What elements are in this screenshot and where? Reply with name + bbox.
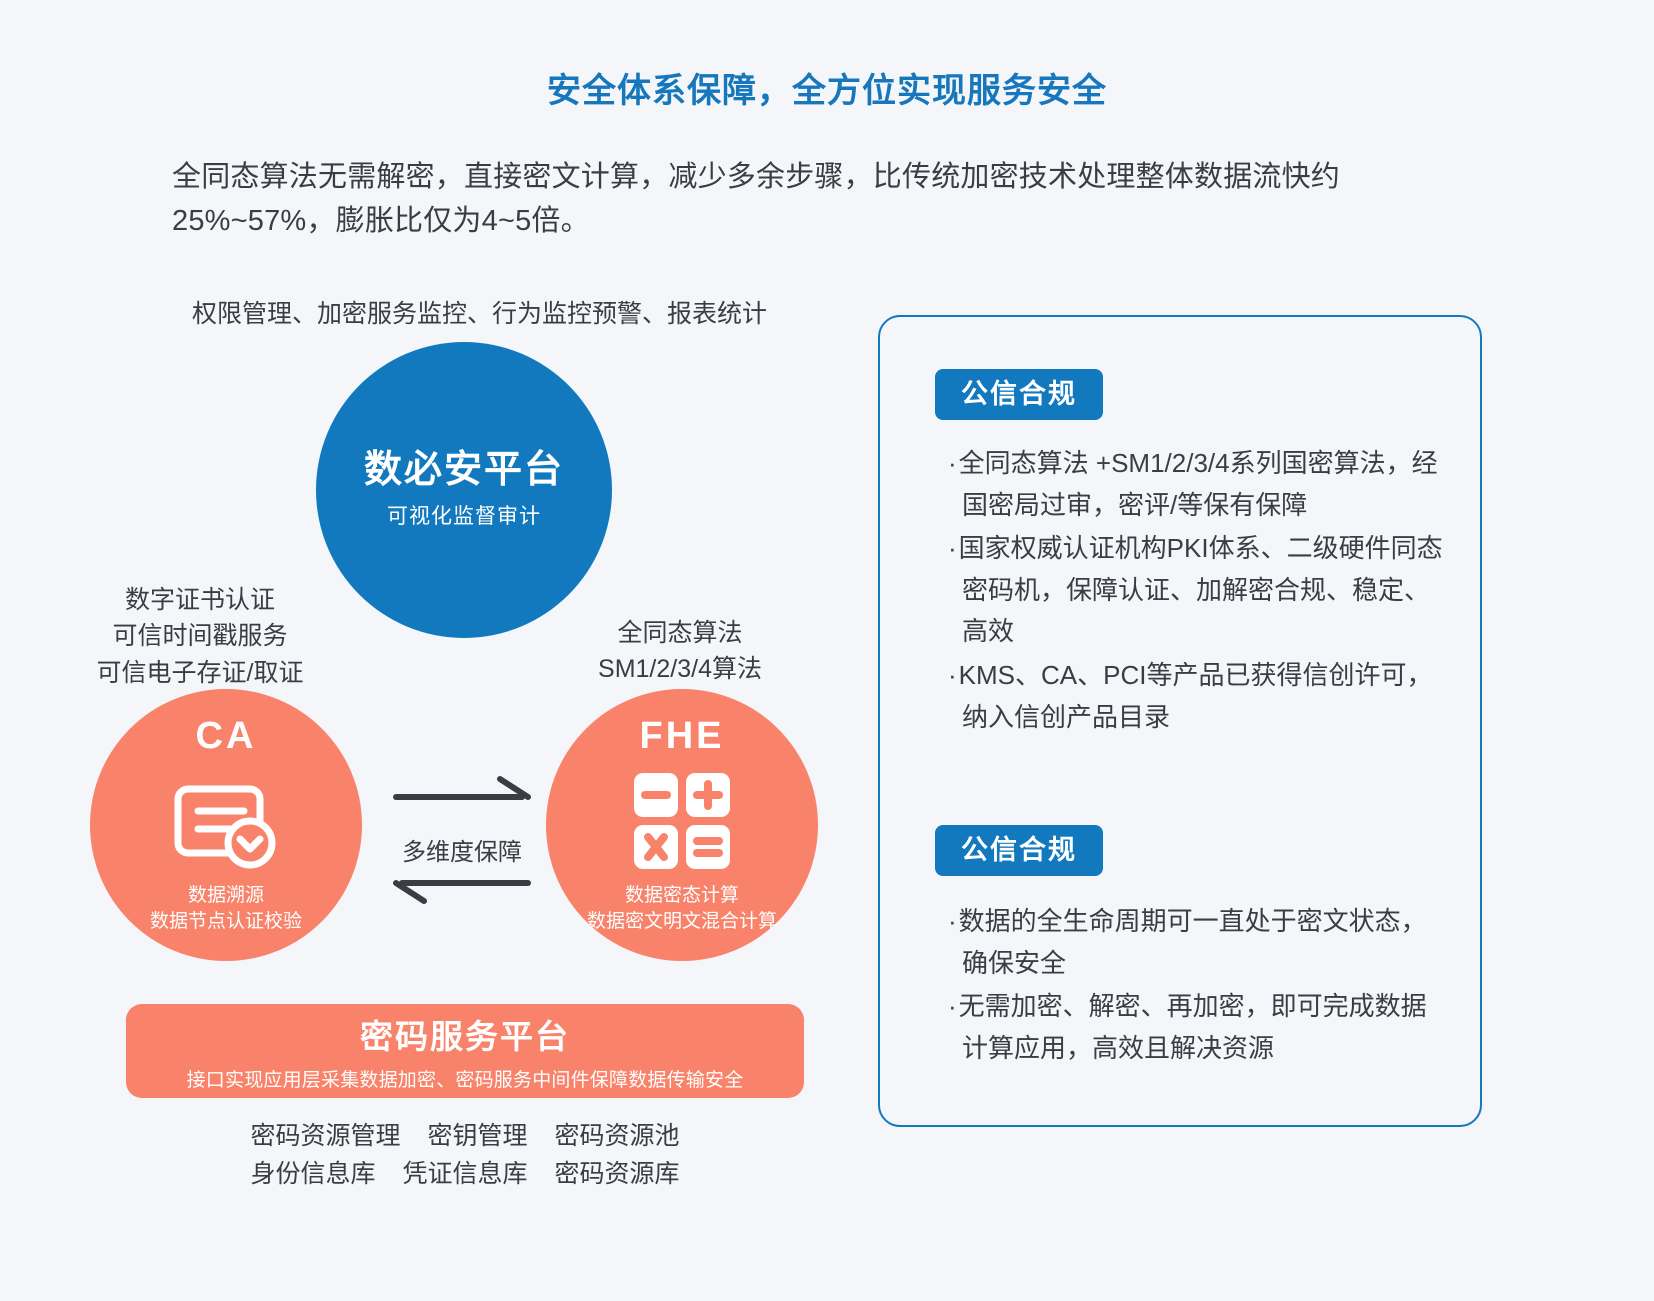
- bottom-item: 凭证信息库: [402, 1160, 527, 1188]
- page-subtitle: 全同态算法无需解密，直接密文计算，减少多余步骤，比传统加密技术处理整体数据流快约…: [172, 155, 1412, 243]
- fhe-circle: FHE 数据密态计算 数据密文明文混合计算: [546, 689, 818, 961]
- calculator-icon: [630, 769, 734, 873]
- certificate-check-icon: [174, 769, 278, 873]
- crypto-service-platform-bar: 密码服务平台 接口实现应用层采集数据加密、密码服务中间件保障数据传输安全: [126, 1004, 804, 1098]
- top-caption: 权限管理、加密服务监控、行为监控预警、报表统计: [192, 294, 767, 330]
- ca-title: CA: [196, 717, 257, 755]
- list-item: 数据的全生命周期可一直处于密文状态，确保安全: [948, 901, 1448, 984]
- compliance-panel: 公信合规 全同态算法 +SM1/2/3/4系列国密算法，经国密局过审，密评/等保…: [878, 315, 1482, 1127]
- ca-caption-line1: 数字证书认证: [40, 582, 360, 618]
- ca-sub-line1: 数据溯源: [150, 883, 302, 909]
- list-item: KMS、CA、PCI等产品已获得信创许可，纳入信创产品目录: [948, 655, 1448, 738]
- bottom-item: 密码资源库: [554, 1160, 679, 1188]
- compliance-list-1: 全同态算法 +SM1/2/3/4系列国密算法，经国密局过审，密评/等保有保障 国…: [948, 443, 1448, 740]
- ca-caption: 数字证书认证 可信时间戳服务 可信电子存证/取证: [40, 582, 360, 691]
- ca-caption-line2: 可信时间戳服务: [40, 618, 360, 654]
- list-item: 国家权威认证机构PKI体系、二级硬件同态密码机，保障认证、加解密合规、稳定、高效: [948, 528, 1448, 653]
- fhe-sub-line1: 数据密态计算: [587, 883, 777, 909]
- fhe-subtitle: 数据密态计算 数据密文明文混合计算: [587, 883, 777, 934]
- fhe-title: FHE: [640, 717, 725, 755]
- page-title: 安全体系保障，全方位实现服务安全: [0, 63, 1654, 112]
- ca-circle: CA 数据溯源 数据节点认证校验: [90, 689, 362, 961]
- bar-subtitle: 接口实现应用层采集数据加密、密码服务中间件保障数据传输安全: [187, 1065, 744, 1092]
- platform-circle: 数必安平台 可视化监督审计: [316, 342, 612, 638]
- list-item: 无需加密、解密、再加密，即可完成数据计算应用，高效且解决资源: [948, 986, 1448, 1069]
- ca-subtitle: 数据溯源 数据节点认证校验: [150, 883, 302, 934]
- ca-sub-line2: 数据节点认证校验: [150, 909, 302, 935]
- fhe-caption-line2: SM1/2/3/4算法: [520, 651, 840, 687]
- ca-caption-line3: 可信电子存证/取证: [40, 655, 360, 691]
- status-badge-compliance-2: 公信合规: [935, 825, 1103, 876]
- bottom-item: 密码资源管理: [251, 1122, 401, 1150]
- bottom-caption-row1: 密码资源管理 密钥管理 密码资源池: [130, 1118, 800, 1156]
- bottom-item: 身份信息库: [251, 1160, 376, 1188]
- fhe-sub-line2: 数据密文明文混合计算: [587, 909, 777, 935]
- status-badge-compliance-1: 公信合规: [935, 369, 1103, 420]
- fhe-caption: 全同态算法 SM1/2/3/4算法: [520, 615, 840, 688]
- bar-title: 密码服务平台: [360, 1010, 570, 1058]
- bottom-item: 密码资源池: [554, 1122, 679, 1150]
- bottom-caption-row2: 身份信息库 凭证信息库 密码资源库: [130, 1156, 800, 1194]
- list-item: 全同态算法 +SM1/2/3/4系列国密算法，经国密局过审，密评/等保有保障: [948, 443, 1448, 526]
- platform-title: 数必安平台: [364, 450, 564, 492]
- bottom-item: 密钥管理: [427, 1122, 527, 1150]
- platform-subtitle: 可视化监督审计: [387, 500, 541, 530]
- compliance-list-2: 数据的全生命周期可一直处于密文状态，确保安全 无需加密、解密、再加密，即可完成数…: [948, 901, 1448, 1071]
- bottom-caption: 密码资源管理 密钥管理 密码资源池 身份信息库 凭证信息库 密码资源库: [130, 1118, 800, 1193]
- infographic-page: 安全体系保障，全方位实现服务安全 全同态算法无需解密，直接密文计算，减少多余步骤…: [0, 0, 1654, 1301]
- architecture-diagram: 权限管理、加密服务监控、行为监控预警、报表统计 数必安平台 可视化监督审计 数字…: [0, 280, 860, 1240]
- fhe-caption-line1: 全同态算法: [520, 615, 840, 651]
- arrow-label: 多维度保障: [382, 832, 542, 867]
